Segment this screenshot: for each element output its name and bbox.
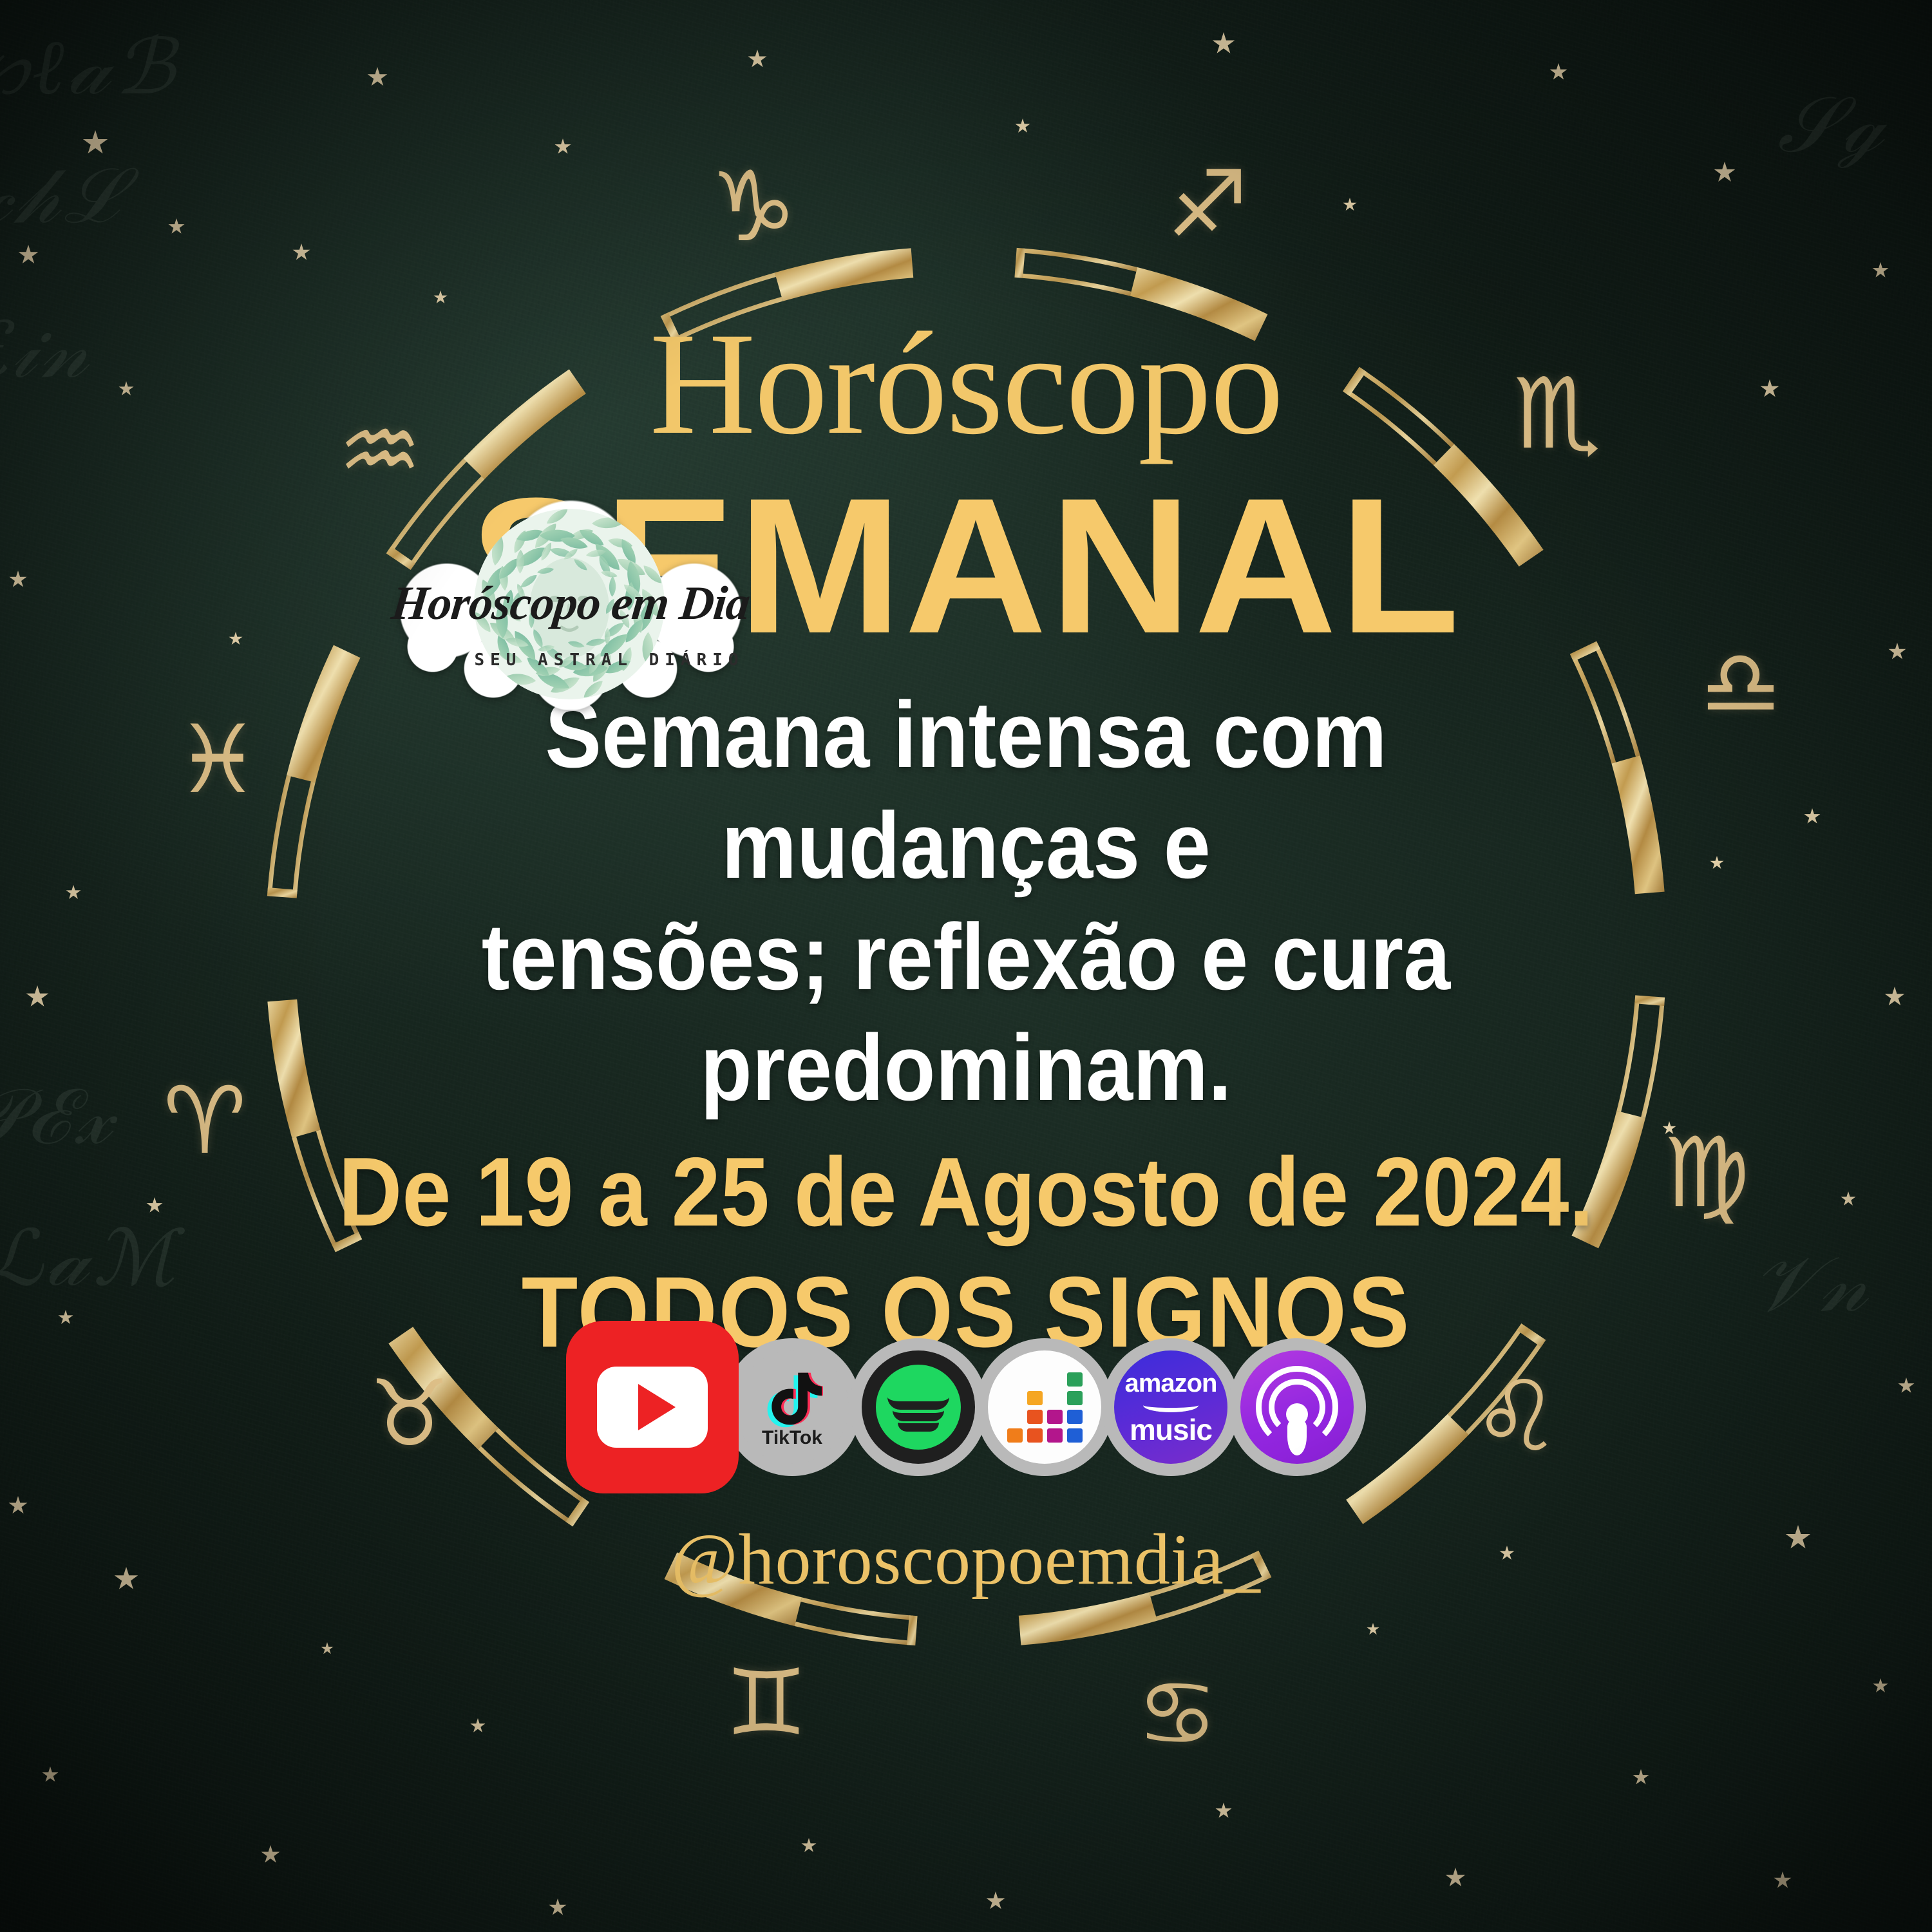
vignette-overlay: [0, 0, 1932, 1932]
play-triangle-icon: [638, 1384, 676, 1430]
youtube-screen-shape: [597, 1367, 708, 1448]
youtube-icon[interactable]: [566, 1321, 739, 1493]
instagram-post-canvas: ℘ℓ𝒶ℬ 𝒸𝒽ℒ ℰ𝒾𝓃 𝒫ℰ𝓍 ℒ𝒶ℳ 𝒮ℊ 𝒱𝓃: [0, 0, 1932, 1932]
